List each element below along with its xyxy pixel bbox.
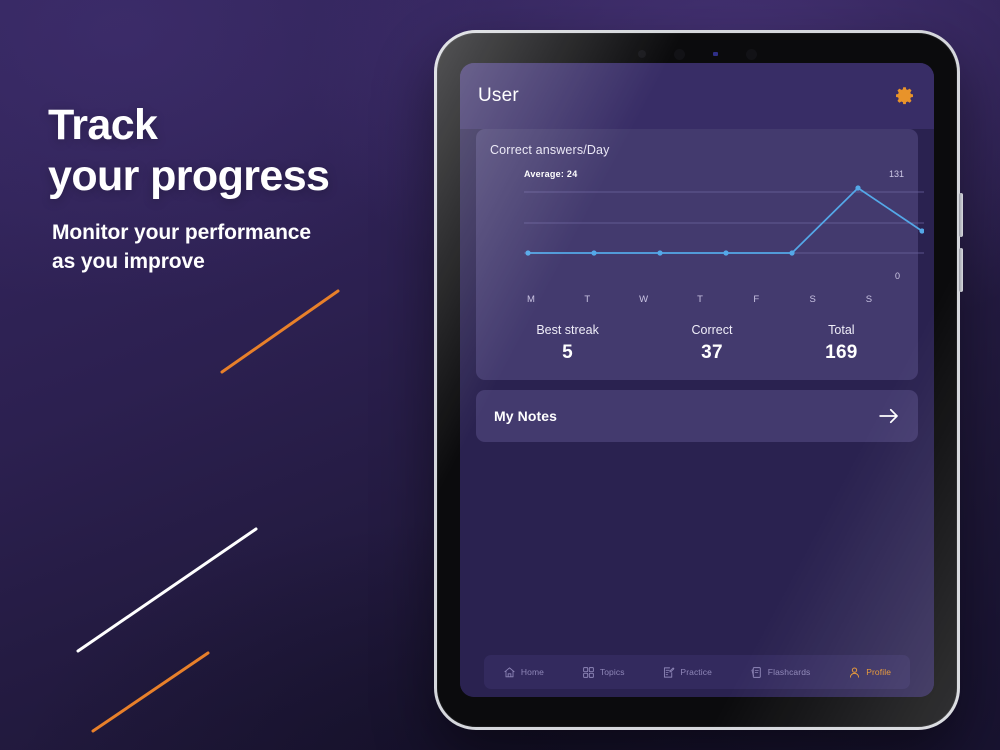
face-id-sensor [746, 49, 757, 60]
note-pencil-icon [662, 666, 675, 679]
stat-total: Total 169 [825, 323, 858, 364]
my-notes-label: My Notes [494, 408, 557, 424]
stat-label: Total [825, 323, 858, 337]
chart-container: Average: 24 131 0 [490, 173, 904, 277]
tab-label: Home [521, 667, 544, 677]
volume-up-button[interactable] [959, 193, 963, 237]
grid-icon [582, 666, 595, 679]
chart-axis-max-label: 131 [889, 169, 904, 179]
stat-label: Best streak [536, 323, 599, 337]
page-title: User [478, 85, 519, 107]
tab-label: Profile [866, 667, 891, 677]
marketing-copy: Track your progress Monitor your perform… [48, 100, 398, 277]
stats-summary-row: Best streak 5 Correct 37 Total 169 [490, 323, 904, 364]
stat-correct: Correct 37 [691, 323, 732, 364]
app-content: Correct answers/Day Average: 24 131 0 [460, 129, 934, 697]
status-led-indicator [713, 52, 718, 56]
content-spacer [476, 452, 918, 645]
stat-value: 37 [691, 342, 732, 364]
arrow-right-icon [878, 408, 900, 424]
headline-line-1: Track [48, 101, 157, 149]
tab-label: Flashcards [768, 667, 811, 677]
axis-label-day-5: S [806, 294, 820, 305]
tab-label: Practice [680, 667, 712, 677]
tab-flashcards[interactable]: Flashcards [750, 666, 811, 679]
chart-title: Correct answers/Day [490, 143, 904, 157]
tab-topics[interactable]: Topics [582, 666, 625, 679]
tablet-screen: User Correct answers/Day Average: 24 131… [460, 63, 934, 697]
axis-label-day-3: T [693, 294, 707, 305]
headline-line-2: your progress [48, 151, 398, 202]
subheadline-line-1: Monitor your performance [52, 219, 398, 248]
subheadline-line-2: as you improve [52, 248, 398, 277]
stats-card: Correct answers/Day Average: 24 131 0 [476, 129, 918, 380]
gear-icon [894, 86, 915, 107]
front-sensor-array [437, 43, 957, 65]
front-camera-lens [674, 49, 685, 60]
chart-average-label: Average: 24 [524, 169, 577, 179]
axis-label-day-4: F [749, 294, 763, 305]
tab-profile[interactable]: Profile [848, 666, 891, 679]
stat-value: 169 [825, 342, 858, 364]
settings-button[interactable] [892, 84, 916, 108]
stat-best-streak: Best streak 5 [536, 323, 599, 364]
subheadline: Monitor your performance as you improve [48, 219, 398, 276]
volume-down-button[interactable] [959, 248, 963, 292]
headline: Track your progress [48, 100, 398, 201]
ambient-sensor-dot [638, 50, 646, 58]
line-chart [524, 183, 924, 261]
tab-practice[interactable]: Practice [662, 666, 712, 679]
cards-icon [750, 666, 763, 679]
axis-label-day-6: S [862, 294, 876, 305]
tablet-device-frame: User Correct answers/Day Average: 24 131… [434, 30, 960, 730]
person-icon [848, 666, 861, 679]
chart-data-line [528, 188, 922, 253]
axis-label-day-2: W [637, 294, 651, 305]
stat-value: 5 [536, 342, 599, 364]
app-header: User [460, 63, 934, 129]
tab-home[interactable]: Home [503, 666, 544, 679]
tab-label: Topics [600, 667, 625, 677]
axis-label-day-0: M [524, 294, 538, 305]
axis-label-day-1: T [580, 294, 594, 305]
bottom-navigation-bar: Home Topics [484, 655, 910, 689]
chart-x-axis-labels: M T W T F S S [524, 294, 876, 305]
stat-label: Correct [691, 323, 732, 337]
chart-axis-min-label: 0 [895, 271, 900, 281]
home-icon [503, 666, 516, 679]
my-notes-row[interactable]: My Notes [476, 390, 918, 442]
